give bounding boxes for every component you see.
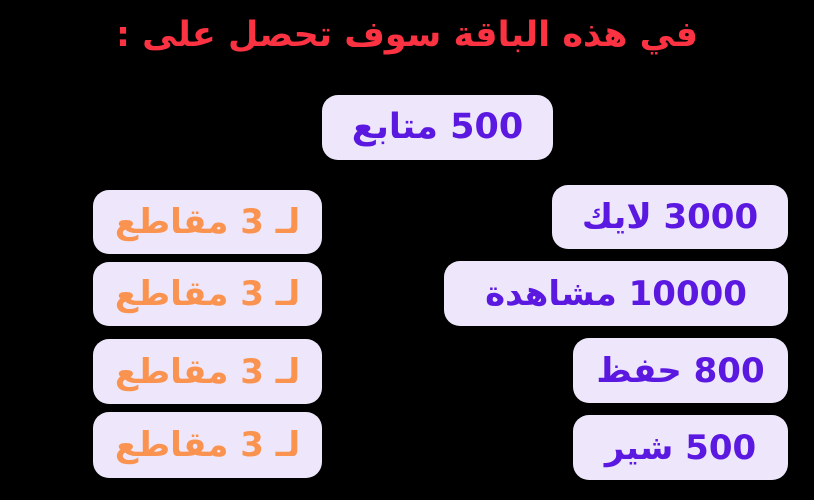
- clips-card-2-label: لـ 3 مقاطع: [115, 277, 300, 311]
- clips-card-1-label: لـ 3 مقاطع: [115, 205, 300, 239]
- clips-card-4: لـ 3 مقاطع: [93, 412, 322, 478]
- clips-card-3: لـ 3 مقاطع: [93, 339, 322, 404]
- followers-card-label: 500 متابع: [352, 110, 523, 145]
- likes-card-label: 3000 لايك: [582, 200, 758, 234]
- followers-card: 500 متابع: [322, 95, 553, 160]
- clips-card-4-label: لـ 3 مقاطع: [115, 428, 300, 462]
- likes-card: 3000 لايك: [552, 185, 788, 249]
- saves-card: 800 حفظ: [573, 338, 788, 403]
- shares-card-label: 500 شير: [605, 431, 756, 465]
- views-card: 10000 مشاهدة: [444, 261, 788, 326]
- clips-card-1: لـ 3 مقاطع: [93, 190, 322, 254]
- promo-graphic: في هذه الباقة سوف تحصل على : 500 متابع 3…: [0, 0, 814, 500]
- clips-card-2: لـ 3 مقاطع: [93, 262, 322, 326]
- shares-card: 500 شير: [573, 415, 788, 480]
- saves-card-label: 800 حفظ: [596, 354, 764, 388]
- views-card-label: 10000 مشاهدة: [485, 277, 747, 311]
- clips-card-3-label: لـ 3 مقاطع: [115, 355, 300, 389]
- page-title: في هذه الباقة سوف تحصل على :: [0, 14, 814, 58]
